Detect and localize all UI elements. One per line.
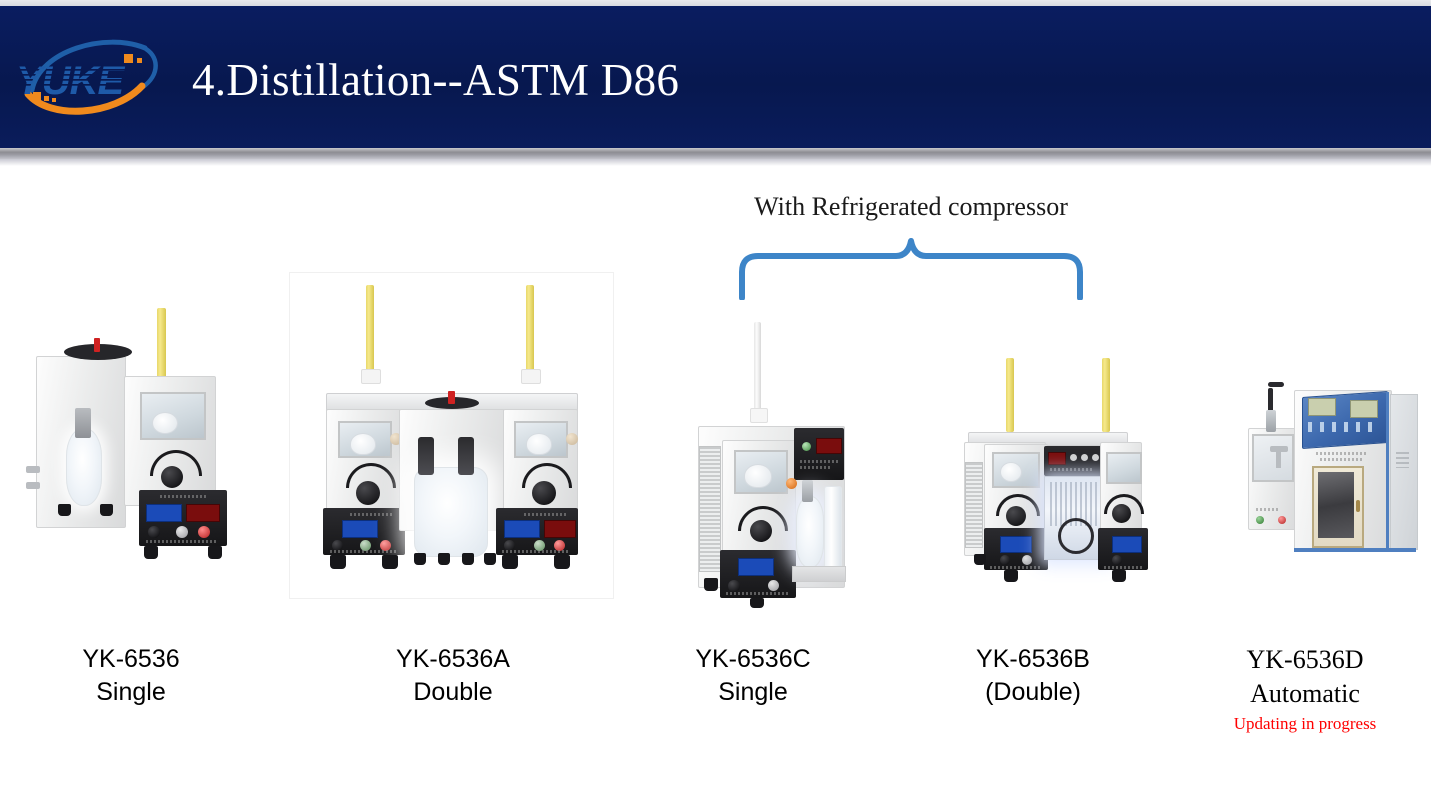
distillation-analyzer-single-refrigerated-image: [680, 300, 870, 600]
curly-brace-icon: [728, 238, 1094, 300]
model-label: YK-6536B: [933, 643, 1133, 676]
svg-text:YUKE: YUKE: [16, 59, 125, 103]
distillation-analyzer-automatic-image: [1230, 360, 1430, 600]
caption-yk-6536b: YK-6536B (Double): [933, 643, 1133, 708]
model-label: YK-6536A: [353, 643, 553, 676]
header-band: YUKE 4.Distillation--ASTM D86: [0, 6, 1431, 148]
caption-yk-6536c: YK-6536C Single: [653, 643, 853, 708]
distillation-analyzer-single-image: [0, 300, 240, 600]
variant-label: Single: [653, 676, 853, 709]
model-label: YK-6536C: [653, 643, 853, 676]
caption-yk-6536d: YK-6536D Automatic Updating in progress: [1205, 643, 1405, 735]
yuke-logo: YUKE: [10, 28, 175, 118]
variant-label: Double: [353, 676, 553, 709]
model-label: YK-6536D: [1205, 643, 1405, 677]
page-title: 4.Distillation--ASTM D86: [192, 54, 679, 106]
caption-yk-6536a: YK-6536A Double: [353, 643, 553, 708]
distillation-analyzer-double-refrigerated-image: [940, 350, 1160, 600]
refrigerated-compressor-label: With Refrigerated compressor: [741, 192, 1081, 222]
status-note: Updating in progress: [1205, 713, 1405, 735]
variant-label: Single: [31, 676, 231, 709]
model-label: YK-6536: [31, 643, 231, 676]
variant-label: Automatic: [1205, 677, 1405, 711]
header-divider: [0, 148, 1431, 159]
header-divider-fade: [0, 159, 1431, 166]
caption-yk-6536: YK-6536 Single: [31, 643, 231, 708]
variant-label: (Double): [933, 676, 1133, 709]
distillation-analyzer-double-image: [289, 272, 614, 599]
